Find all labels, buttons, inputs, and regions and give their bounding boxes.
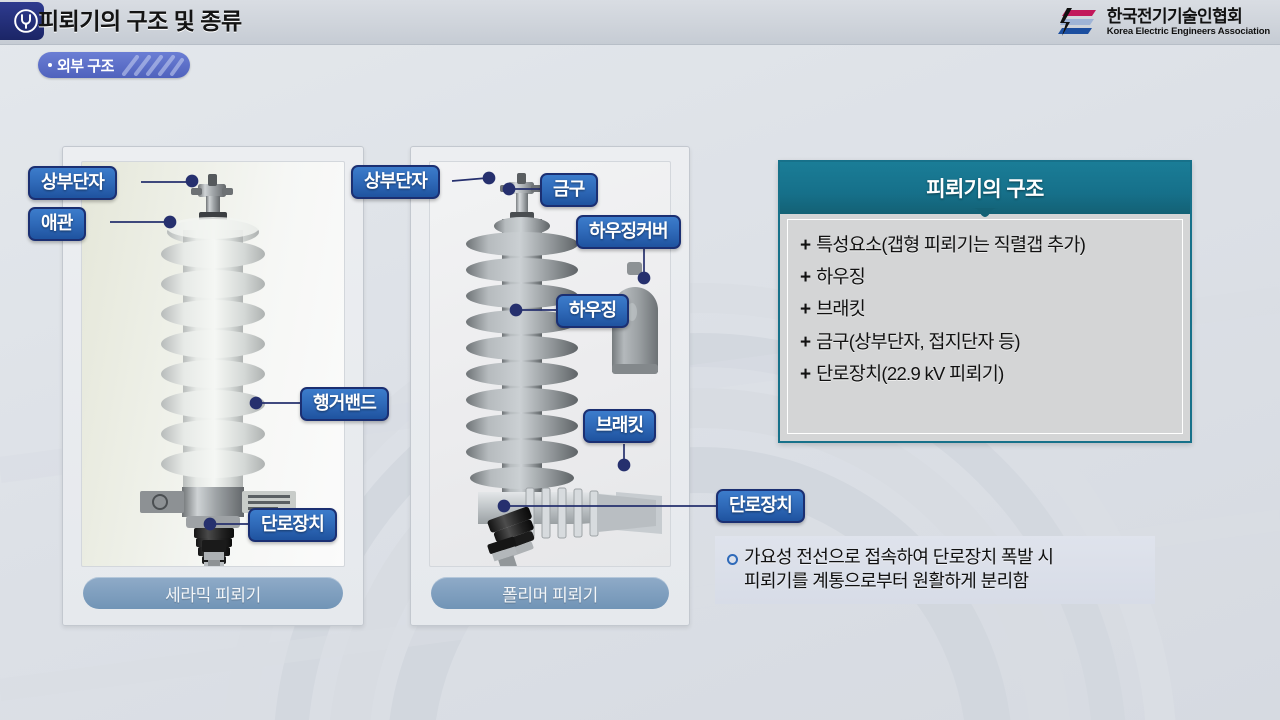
slide-root: 피뢰기의 구조 및 종류 한국전기기술인협회 Korea Electric En… bbox=[0, 0, 1280, 720]
bullet-plus-icon: + bbox=[800, 268, 811, 287]
info-list-item: + 하우징 bbox=[800, 266, 1174, 288]
callout-polymer-disconnector[interactable]: 단로장치 bbox=[716, 489, 805, 523]
polymer-caption-pill: 폴리머 피뢰기 bbox=[431, 577, 669, 609]
info-panel-notch-decoration bbox=[972, 208, 998, 220]
subtitle-label: 외부 구조 bbox=[57, 55, 114, 76]
ceramic-caption-label: 세라믹 피뢰기 bbox=[165, 581, 261, 606]
info-item-text: 하우징 bbox=[816, 266, 865, 288]
organization-logo: 한국전기기술인협회 Korea Electric Engineers Assoc… bbox=[1054, 4, 1270, 40]
info-item-text: 특성요소(갭형 피뢰기는 직렬갭 추가) bbox=[816, 234, 1085, 256]
logo-korean-name: 한국전기기술인협회 bbox=[1107, 8, 1270, 25]
polymer-caption-label: 폴리머 피뢰기 bbox=[502, 581, 598, 606]
callout-polymer-metal-fitting[interactable]: 금구 bbox=[540, 173, 598, 207]
info-list-item: + 단로장치(22.9 kV 피뢰기) bbox=[800, 363, 1174, 385]
note-bullet-icon bbox=[727, 554, 738, 565]
subtitle-pill: 외부 구조 bbox=[38, 52, 190, 78]
info-list-item: + 특성요소(갭형 피뢰기는 직렬갭 추가) bbox=[800, 234, 1174, 256]
page-title: 피뢰기의 구조 및 종류 bbox=[38, 4, 242, 38]
info-panel-title: 피뢰기의 구조 bbox=[926, 173, 1044, 203]
ceramic-arrester-photo bbox=[81, 161, 345, 567]
info-list-item: + 브래킷 bbox=[800, 298, 1174, 320]
disconnector-note-box: 가요성 전선으로 접속하여 단로장치 폭발 시 피뢰기를 계통으로부터 원활하게… bbox=[715, 536, 1155, 604]
callout-ceramic-disconnector[interactable]: 단로장치 bbox=[248, 508, 337, 542]
info-panel-header: 피뢰기의 구조 bbox=[780, 162, 1190, 214]
info-item-text: 브래킷 bbox=[816, 298, 865, 320]
subtitle-stripes-decoration bbox=[120, 52, 186, 78]
callout-ceramic-upper-terminal[interactable]: 상부단자 bbox=[28, 166, 117, 200]
structure-info-panel: 피뢰기의 구조 + 특성요소(갭형 피뢰기는 직렬갭 추가) + 하우징 + 브… bbox=[778, 160, 1192, 443]
plug-icon bbox=[13, 8, 39, 34]
ceramic-caption-pill: 세라믹 피뢰기 bbox=[83, 577, 343, 609]
ceramic-arrester-illustration bbox=[82, 162, 345, 567]
bullet-plus-icon: + bbox=[800, 300, 811, 319]
kea-logo-mark-icon bbox=[1054, 7, 1100, 37]
callout-ceramic-hanger-band[interactable]: 행거밴드 bbox=[300, 387, 389, 421]
callout-ceramic-insulator-tube[interactable]: 애관 bbox=[28, 207, 86, 241]
info-panel-body: + 특성요소(갭형 피뢰기는 직렬갭 추가) + 하우징 + 브래킷 + 금구(… bbox=[787, 219, 1183, 434]
bullet-plus-icon: + bbox=[800, 333, 811, 352]
header-bar: 피뢰기의 구조 및 종류 한국전기기술인협회 Korea Electric En… bbox=[0, 0, 1280, 45]
callout-polymer-housing-cover[interactable]: 하우징커버 bbox=[576, 215, 681, 249]
info-item-text: 금구(상부단자, 접지단자 등) bbox=[816, 331, 1020, 353]
callout-polymer-housing[interactable]: 하우징 bbox=[556, 294, 629, 328]
subtitle-bullet-icon bbox=[48, 63, 52, 67]
logo-english-name: Korea Electric Engineers Association bbox=[1107, 27, 1270, 37]
note-line-2: 피뢰기를 계통으로부터 원활하게 분리함 bbox=[744, 569, 1053, 593]
bullet-plus-icon: + bbox=[800, 365, 811, 384]
polymer-disconnector-stem bbox=[430, 522, 671, 567]
ceramic-arrester-card: 세라믹 피뢰기 bbox=[62, 146, 364, 626]
callout-polymer-upper-terminal[interactable]: 상부단자 bbox=[351, 165, 440, 199]
callout-polymer-bracket[interactable]: 브래킷 bbox=[583, 409, 656, 443]
info-list-item: + 금구(상부단자, 접지단자 등) bbox=[800, 331, 1174, 353]
note-line-1: 가요성 전선으로 접속하여 단로장치 폭발 시 bbox=[744, 545, 1053, 569]
bullet-plus-icon: + bbox=[800, 236, 811, 255]
ceramic-disconnector-stem bbox=[82, 540, 345, 567]
info-item-text: 단로장치(22.9 kV 피뢰기) bbox=[816, 363, 1003, 385]
